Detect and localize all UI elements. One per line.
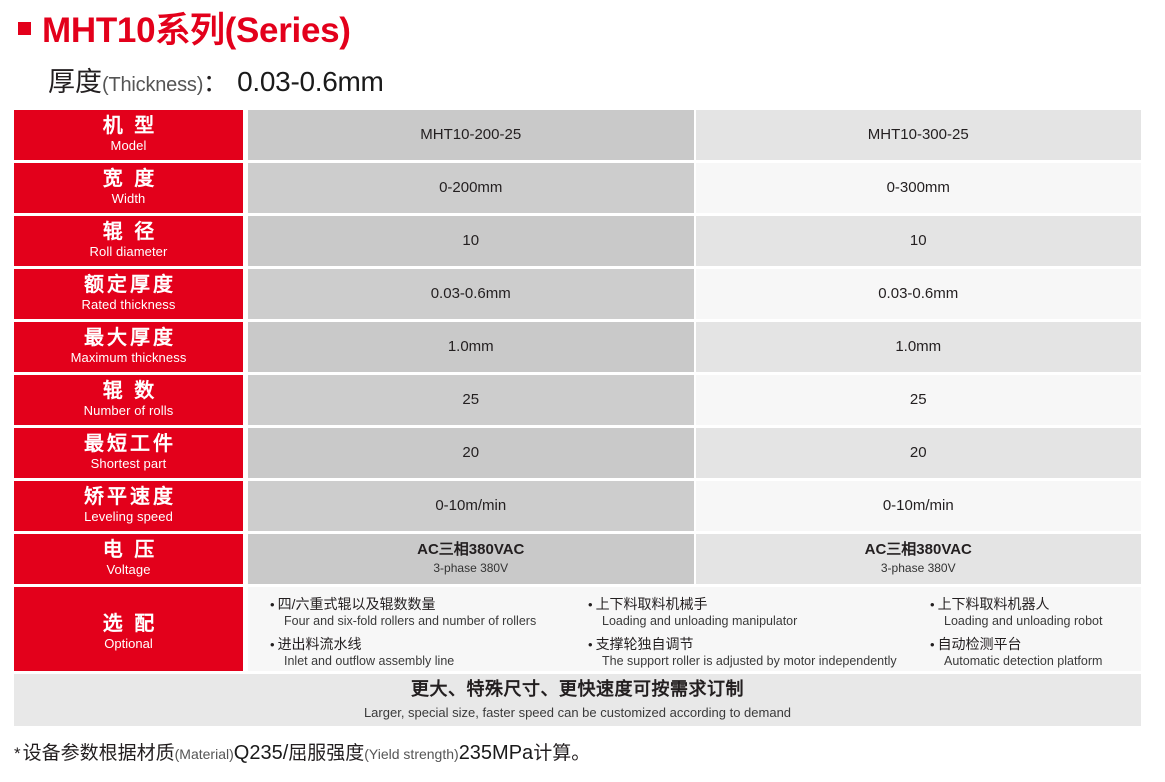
row-label-voltage: 电 压 Voltage (14, 534, 243, 584)
row-label-en: Optional (104, 636, 152, 651)
cell-value: 25 (462, 391, 479, 409)
cell-value-sub: 3-phase 380V (433, 560, 508, 577)
table-row: 宽 度 Width 0-200mm 0-300mm (14, 163, 1141, 213)
cell-col2: AC三相380VAC 3-phase 380V (248, 534, 696, 584)
title-row: MHT10系列(Series) (0, 8, 1165, 52)
cell-value: 0-200mm (439, 179, 502, 197)
table-row: 矫平速度 Leveling speed 0-10m/min 0-10m/min (14, 481, 1141, 531)
row-label-cn: 宽 度 (100, 168, 158, 191)
bullet-dot-icon: • (588, 637, 596, 652)
optional-item-cn-line: •四/六重式辊以及辊数数量 (270, 596, 580, 614)
row-label-cn: 矫平速度 (81, 486, 176, 509)
thickness-colon: ： (203, 63, 237, 98)
row-label-en: Roll diameter (90, 244, 168, 260)
disclaimer-part1-cn: 设备参数根据材质 (23, 738, 175, 765)
bullet-dot-icon: • (588, 597, 596, 612)
row-label-cn: 辊 数 (100, 380, 158, 403)
cell-value: AC三相380VAC (865, 541, 972, 559)
row-label-cn: 额定厚度 (81, 274, 176, 297)
optional-item-cn-line: •上下料取料机器人 (930, 596, 1141, 614)
customization-note-row: 更大、特殊尺寸、更快速度可按需求订制 Larger, special size,… (14, 674, 1141, 726)
optional-item-en: Four and six-fold rollers and number of … (270, 614, 580, 630)
table-row: 额定厚度 Rated thickness 0.03-0.6mm 0.03-0.6… (14, 269, 1141, 319)
row-label-optional: 选 配 Optional (14, 587, 243, 671)
optional-column: •四/六重式辊以及辊数数量 Four and six-fold rollers … (248, 596, 580, 671)
disclaimer-part2-cn: 屈服强度 (288, 738, 364, 765)
row-label-cn: 辊 径 (100, 221, 158, 244)
row-label-maximum-thickness: 最大厚度 Maximum thickness (14, 322, 243, 372)
cell-value: MHT10-200-25 (420, 126, 521, 144)
row-label-cn: 最大厚度 (81, 327, 176, 350)
cell-value-sub: 3-phase 380V (881, 560, 956, 577)
thickness-subtitle: 厚度 (Thickness) ： 0.03-0.6mm (0, 60, 1165, 96)
row-label-roll-diameter: 辊 径 Roll diameter (14, 216, 243, 266)
row-label-cn: 最短工件 (81, 433, 176, 456)
customization-note-cn: 更大、特殊尺寸、更快速度可按需求订制 (411, 678, 744, 701)
cell-col3: 10 (696, 216, 1142, 266)
cell-col3: 0-300mm (696, 163, 1142, 213)
row-label-en: Shortest part (91, 456, 167, 472)
row-label-en: Width (112, 191, 146, 207)
row-label-en: Number of rolls (84, 403, 174, 419)
optional-item-en: Loading and unloading manipulator (588, 614, 910, 630)
cell-col2: 25 (248, 375, 696, 425)
optional-item: •支撑轮独自调节 The support roller is adjusted … (588, 636, 910, 669)
row-label-cn: 电 压 (100, 539, 158, 562)
optional-item-cn: 自动检测平台 (938, 636, 1022, 652)
row-label-shortest-part: 最短工件 Shortest part (14, 428, 243, 478)
square-bullet-icon (18, 22, 31, 35)
optional-item-cn: 进出料流水线 (278, 636, 362, 652)
cell-value: 10 (462, 232, 479, 250)
cell-value: 20 (910, 444, 927, 462)
optional-item: •上下料取料机器人 Loading and unloading robot (930, 596, 1141, 629)
bullet-dot-icon: • (270, 637, 278, 652)
cell-col3: 0-10m/min (696, 481, 1142, 531)
cell-value: 20 (462, 444, 479, 462)
row-label-en: Maximum thickness (71, 350, 187, 366)
cell-value: 10 (910, 232, 927, 250)
row-label-width: 宽 度 Width (14, 163, 243, 213)
bullet-dot-icon: • (270, 597, 278, 612)
cell-col3: AC三相380VAC 3-phase 380V (696, 534, 1142, 584)
cell-value: 0.03-0.6mm (878, 285, 958, 303)
thickness-value: 0.03-0.6mm (237, 66, 383, 98)
optional-item-cn-line: •自动检测平台 (930, 636, 1141, 654)
row-label-en: Model (111, 138, 147, 154)
optional-item: •四/六重式辊以及辊数数量 Four and six-fold rollers … (270, 596, 580, 629)
cell-col3: 20 (696, 428, 1142, 478)
thickness-label-en: (Thickness) (102, 74, 203, 97)
optional-item: •进出料流水线 Inlet and outflow assembly line (270, 636, 580, 669)
cell-col2: 0.03-0.6mm (248, 269, 696, 319)
optional-item: •上下料取料机械手 Loading and unloading manipula… (588, 596, 910, 629)
cell-value: 1.0mm (448, 338, 494, 356)
disclaimer-material-grade: Q235/ (234, 742, 288, 765)
cell-col2: MHT10-200-25 (248, 110, 696, 160)
optional-item-cn-line: •进出料流水线 (270, 636, 580, 654)
disclaimer-part3-cn: 计算。 (533, 738, 590, 765)
asterisk-icon: * (14, 744, 23, 764)
row-label-cn: 选 配 (100, 607, 158, 636)
page-title: MHT10系列(Series) (42, 13, 351, 48)
cell-col2: 10 (248, 216, 696, 266)
cell-value: 0.03-0.6mm (431, 285, 511, 303)
bullet-dot-icon: • (930, 637, 938, 652)
disclaimer-part1-en: (Material) (175, 746, 234, 762)
table-row-optional: 选 配 Optional •四/六重式辊以及辊数数量 Four and six-… (14, 587, 1141, 671)
cell-value: AC三相380VAC (417, 541, 524, 559)
optional-item-cn: 四/六重式辊以及辊数数量 (278, 596, 436, 612)
thickness-label-cn: 厚度 (48, 60, 102, 99)
table-row: 机 型 Model MHT10-200-25 MHT10-300-25 (14, 110, 1141, 160)
bullet-dot-icon: • (930, 597, 938, 612)
cell-col2: 20 (248, 428, 696, 478)
optional-item-cn: 上下料取料机械手 (596, 596, 708, 612)
cell-value: 1.0mm (895, 338, 941, 356)
cell-col3: 1.0mm (696, 322, 1142, 372)
row-label-en: Leveling speed (84, 509, 173, 525)
optional-item: •自动检测平台 Automatic detection platform (930, 636, 1141, 669)
row-label-number-of-rolls: 辊 数 Number of rolls (14, 375, 243, 425)
row-label-rated-thickness: 额定厚度 Rated thickness (14, 269, 243, 319)
optional-item-en: Loading and unloading robot (930, 614, 1141, 630)
table-row: 最大厚度 Maximum thickness 1.0mm 1.0mm (14, 322, 1141, 372)
cell-value: 0-10m/min (883, 497, 954, 515)
optional-item-en: The support roller is adjusted by motor … (588, 654, 910, 670)
optional-column: •上下料取料机械手 Loading and unloading manipula… (580, 596, 910, 671)
cell-col2: 0-10m/min (248, 481, 696, 531)
table-row: 辊 数 Number of rolls 25 25 (14, 375, 1141, 425)
optional-column: •上下料取料机器人 Loading and unloading robot •自… (910, 596, 1141, 671)
cell-col3: 25 (696, 375, 1142, 425)
cell-value: 0-10m/min (435, 497, 506, 515)
row-label-model: 机 型 Model (14, 110, 243, 160)
cell-value: MHT10-300-25 (868, 126, 969, 144)
specification-table: 机 型 Model MHT10-200-25 MHT10-300-25 宽 度 … (14, 110, 1141, 726)
cell-col3: MHT10-300-25 (696, 110, 1142, 160)
optional-item-en: Automatic detection platform (930, 654, 1141, 670)
table-row: 最短工件 Shortest part 20 20 (14, 428, 1141, 478)
table-row: 电 压 Voltage AC三相380VAC 3-phase 380V AC三相… (14, 534, 1141, 584)
page-header: MHT10系列(Series) 厚度 (Thickness) ： 0.03-0.… (0, 0, 1165, 96)
cell-col2: 0-200mm (248, 163, 696, 213)
cell-value: 25 (910, 391, 927, 409)
cell-col3: 0.03-0.6mm (696, 269, 1142, 319)
disclaimer-yield-value: 235MPa (459, 742, 534, 765)
optional-body: •四/六重式辊以及辊数数量 Four and six-fold rollers … (248, 587, 1141, 671)
optional-item-cn-line: •支撑轮独自调节 (588, 636, 910, 654)
row-label-cn: 机 型 (100, 115, 158, 138)
optional-item-cn: 支撑轮独自调节 (596, 636, 694, 652)
table-row: 辊 径 Roll diameter 10 10 (14, 216, 1141, 266)
disclaimer-note: * 设备参数根据材质 (Material) Q235/ 屈服强度 (Yield … (14, 738, 590, 765)
optional-item-cn: 上下料取料机器人 (938, 596, 1050, 612)
cell-col2: 1.0mm (248, 322, 696, 372)
row-label-en: Rated thickness (82, 297, 176, 313)
optional-item-cn-line: •上下料取料机械手 (588, 596, 910, 614)
optional-item-en: Inlet and outflow assembly line (270, 654, 580, 670)
row-label-leveling-speed: 矫平速度 Leveling speed (14, 481, 243, 531)
disclaimer-part2-en: (Yield strength) (364, 746, 458, 762)
row-label-en: Voltage (106, 562, 150, 578)
customization-note-en: Larger, special size, faster speed can b… (364, 704, 791, 722)
cell-value: 0-300mm (887, 179, 950, 197)
